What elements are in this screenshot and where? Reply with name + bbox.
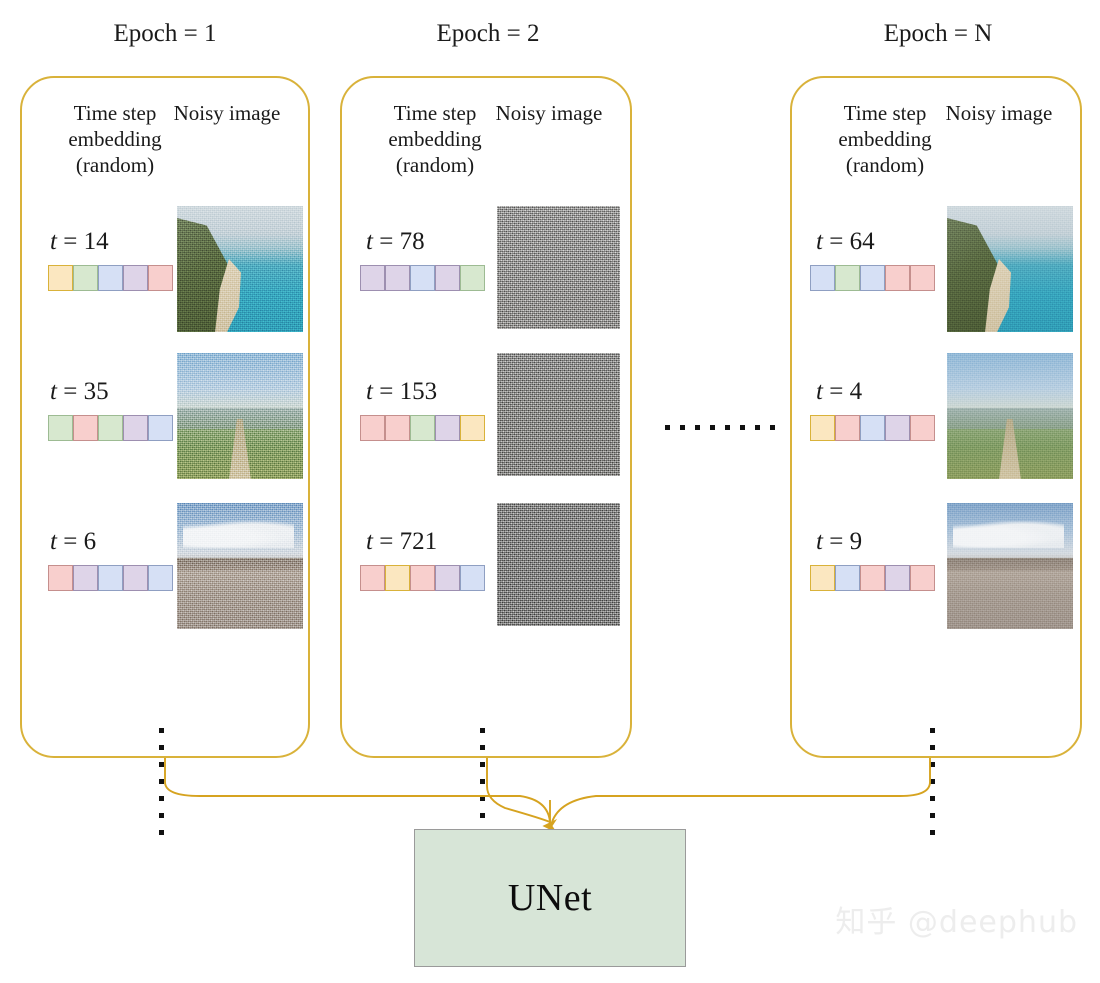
epoch-card-3: Time step embedding (random) Noisy image… [790, 76, 1082, 758]
embedding-cell [885, 415, 910, 441]
timestep-value: 4 [850, 378, 863, 405]
noisy-image-thumbnail [177, 206, 303, 332]
timestep-symbol: t [366, 228, 373, 255]
timestep-embedding-bar [810, 265, 935, 291]
noisy-image-thumbnail [497, 206, 620, 329]
timestep-embedding-bar [360, 565, 485, 591]
timestep-embedding-bar [810, 415, 935, 441]
timestep-symbol: t [366, 528, 373, 555]
embedding-cell [810, 265, 835, 291]
embedding-cell [885, 265, 910, 291]
noisy-image-thumbnail [497, 353, 620, 476]
column-header-noisy-image-1: Noisy image [152, 100, 302, 126]
between-columns-ellipsis [665, 425, 775, 430]
timestep-symbol: t [50, 378, 57, 405]
embedding-cell [385, 565, 410, 591]
embedding-cell [148, 565, 173, 591]
epoch-title-2: Epoch = 2 [383, 20, 593, 48]
noisy-image-thumbnail [177, 503, 303, 629]
noise-overlay [947, 353, 1073, 479]
embedding-cell [910, 265, 935, 291]
timestep-equals: = [63, 528, 77, 555]
timestep-value: 35 [84, 378, 109, 405]
timestep-label: t = 721 [366, 528, 437, 556]
timestep-equals: = [829, 528, 843, 555]
timestep-embedding-bar [48, 265, 173, 291]
embedding-cell [385, 415, 410, 441]
unet-label: UNet [508, 876, 592, 920]
embedding-cell [48, 415, 73, 441]
column-header-noisy-image-3: Noisy image [924, 100, 1074, 126]
timestep-value: 64 [850, 228, 875, 255]
embedding-cell [148, 415, 173, 441]
noisy-image-thumbnail [947, 353, 1073, 479]
timestep-value: 78 [400, 228, 425, 255]
embedding-cell [48, 565, 73, 591]
timestep-label: t = 64 [816, 228, 875, 256]
timestep-equals: = [379, 528, 393, 555]
timestep-embedding-bar [810, 565, 935, 591]
embedding-cell [860, 415, 885, 441]
timestep-label: t = 153 [366, 378, 437, 406]
embedding-cell [48, 265, 73, 291]
vertical-ellipsis [930, 728, 936, 847]
timestep-symbol: t [816, 378, 823, 405]
embedding-cell [73, 565, 98, 591]
embedding-cell [460, 565, 485, 591]
timestep-equals: = [379, 228, 393, 255]
embedding-cell [360, 415, 385, 441]
noise-overlay [497, 206, 620, 329]
embedding-cell [73, 415, 98, 441]
embedding-cell [98, 565, 123, 591]
noise-overlay [497, 353, 620, 476]
noisy-image-thumbnail [497, 503, 620, 626]
embedding-cell [73, 265, 98, 291]
embedding-cell [435, 415, 460, 441]
timestep-value: 721 [400, 528, 438, 555]
noisy-image-thumbnail [947, 503, 1073, 629]
embedding-cell [123, 565, 148, 591]
embedding-cell [98, 265, 123, 291]
noisy-image-thumbnail [947, 206, 1073, 332]
noise-overlay [177, 206, 303, 332]
noise-overlay [947, 206, 1073, 332]
epoch-title-3: Epoch = N [833, 20, 1043, 48]
timestep-label: t = 14 [50, 228, 109, 256]
timestep-label: t = 9 [816, 528, 862, 556]
embedding-cell [435, 265, 460, 291]
embedding-cell [360, 265, 385, 291]
embedding-cell [910, 415, 935, 441]
timestep-symbol: t [50, 228, 57, 255]
embedding-cell [98, 415, 123, 441]
embedding-cell [835, 415, 860, 441]
timestep-value: 14 [84, 228, 109, 255]
timestep-label: t = 35 [50, 378, 109, 406]
embedding-cell [860, 565, 885, 591]
timestep-embedding-bar [48, 415, 173, 441]
timestep-equals: = [829, 228, 843, 255]
embedding-cell [123, 415, 148, 441]
embedding-cell [435, 565, 460, 591]
timestep-value: 153 [400, 378, 438, 405]
embedding-cell [410, 415, 435, 441]
embedding-cell [810, 565, 835, 591]
timestep-symbol: t [816, 228, 823, 255]
timestep-equals: = [63, 378, 77, 405]
embedding-cell [410, 565, 435, 591]
embedding-cell [835, 565, 860, 591]
embedding-cell [910, 565, 935, 591]
timestep-embedding-bar [48, 565, 173, 591]
timestep-embedding-bar [360, 415, 485, 441]
unet-box: UNet [414, 829, 686, 967]
timestep-equals: = [379, 378, 393, 405]
timestep-value: 9 [850, 528, 863, 555]
embedding-cell [148, 265, 173, 291]
epoch-title-1: Epoch = 1 [60, 20, 270, 48]
embedding-cell [123, 265, 148, 291]
noisy-image-thumbnail [177, 353, 303, 479]
embedding-cell [460, 415, 485, 441]
timestep-symbol: t [816, 528, 823, 555]
timestep-label: t = 78 [366, 228, 425, 256]
embedding-cell [810, 415, 835, 441]
noise-overlay [497, 503, 620, 626]
embedding-cell [460, 265, 485, 291]
timestep-equals: = [829, 378, 843, 405]
timestep-symbol: t [366, 378, 373, 405]
column-header-noisy-image-2: Noisy image [474, 100, 624, 126]
timestep-symbol: t [50, 528, 57, 555]
timestep-label: t = 6 [50, 528, 96, 556]
embedding-cell [360, 565, 385, 591]
watermark: 知乎 @deephub [835, 897, 1078, 941]
noise-overlay [177, 503, 303, 629]
embedding-cell [385, 265, 410, 291]
epoch-card-2: Time step embedding (random) Noisy image… [340, 76, 632, 758]
embedding-cell [835, 265, 860, 291]
timestep-label: t = 4 [816, 378, 862, 406]
timestep-embedding-bar [360, 265, 485, 291]
embedding-cell [860, 265, 885, 291]
vertical-ellipsis [159, 728, 165, 847]
embedding-cell [410, 265, 435, 291]
epoch-card-1: Time step embedding (random) Noisy image… [20, 76, 310, 758]
timestep-value: 6 [84, 528, 97, 555]
noise-overlay [177, 353, 303, 479]
embedding-cell [885, 565, 910, 591]
timestep-equals: = [63, 228, 77, 255]
noise-overlay [947, 503, 1073, 629]
